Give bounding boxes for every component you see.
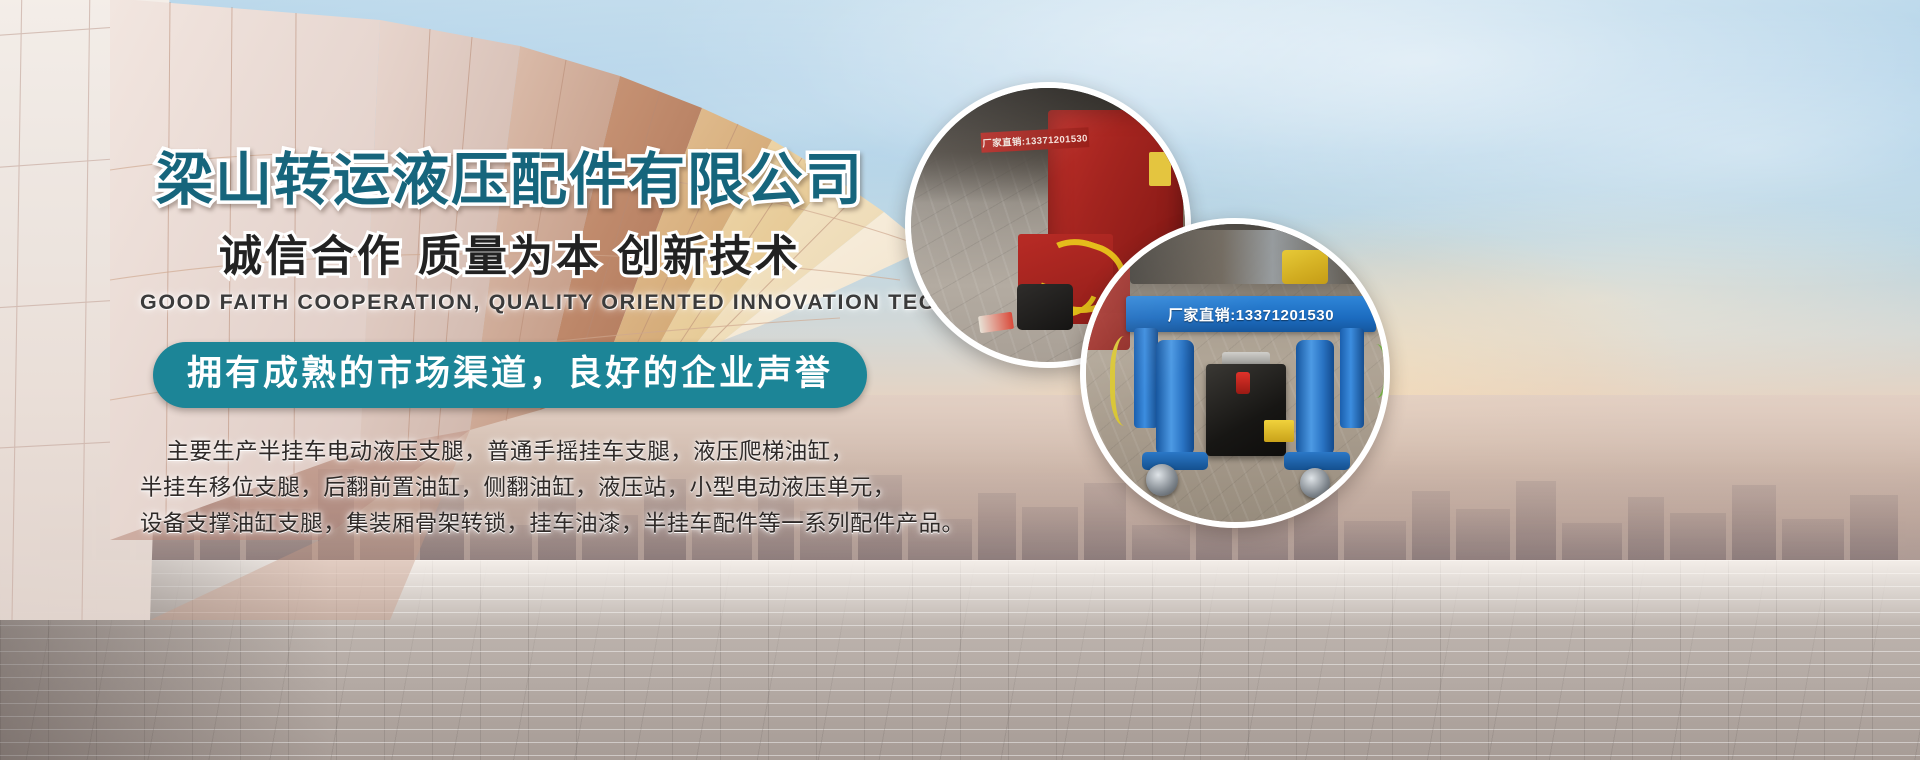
page-title: 梁山转运液压配件有限公司 — [140, 150, 880, 212]
promotional-banner: 梁山转运液压配件有限公司 诚信合作 质量为本 创新技术 GOOD FAITH C… — [0, 0, 1920, 760]
highlight-pill: 拥有成熟的市场渠道，良好的企业声誉 — [153, 342, 867, 409]
photo-sheen — [1086, 224, 1384, 522]
banner-text-block: 梁山转运液压配件有限公司 诚信合作 质量为本 创新技术 GOOD FAITH C… — [140, 150, 880, 541]
description-line: 设备支撑油缸支腿，集装厢骨架转锁，挂车油漆，半挂车配件等一系列配件产品。 — [140, 506, 880, 542]
description-line: 主要生产半挂车电动液压支腿，普通手摇挂车支腿，液压爬梯油缸， — [140, 434, 880, 470]
slogan-english: GOOD FAITH COOPERATION, QUALITY ORIENTED… — [140, 290, 880, 315]
product-description: 主要生产半挂车电动液压支腿，普通手摇挂车支腿，液压爬梯油缸， 半挂车移位支腿，后… — [140, 434, 880, 541]
highlight-pill-wrapper: 拥有成熟的市场渠道，良好的企业声誉 — [140, 342, 880, 409]
slogan-chinese: 诚信合作 质量为本 创新技术 — [140, 234, 880, 281]
highlight-pill-label: 拥有成熟的市场渠道，良好的企业声誉 — [187, 354, 833, 395]
description-line: 半挂车移位支腿，后翻前置油缸，侧翻油缸，液压站，小型电动液压单元， — [140, 470, 880, 506]
product-photo-blue-machine: 厂家直销:13371201530 — [1080, 218, 1390, 528]
